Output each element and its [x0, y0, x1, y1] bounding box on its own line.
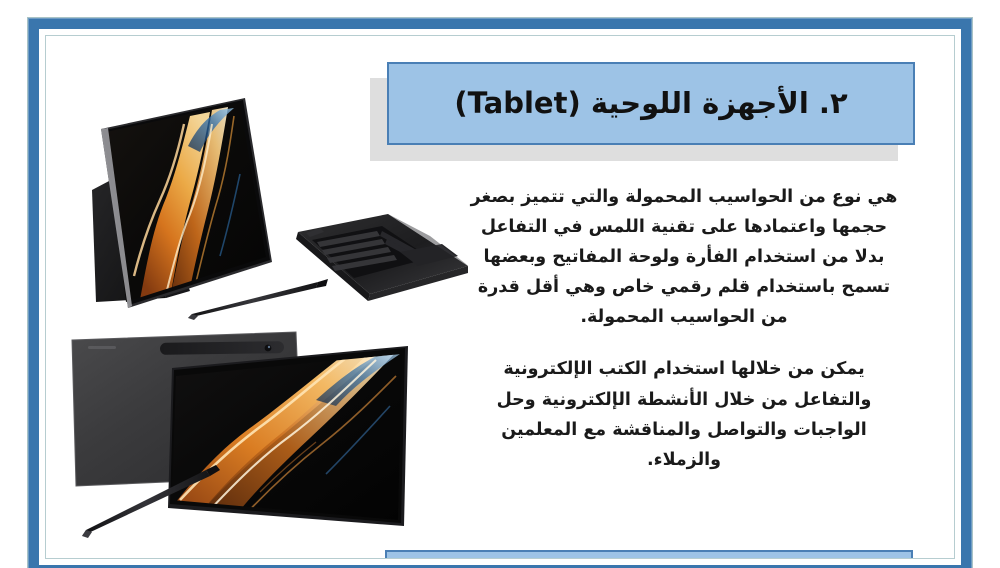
paragraph-educational-uses: يمكن من خلالها استخدام الكتب الإلكترونية…	[464, 354, 904, 474]
body-text-column: هي نوع من الحواسيب المحمولة والتي تتميز …	[464, 182, 904, 475]
paragraph-definition: هي نوع من الحواسيب المحمولة والتي تتميز …	[464, 182, 904, 332]
bottom-banner	[385, 550, 913, 558]
tablet-with-keyboard-image	[70, 86, 470, 336]
slide: ٢. الأجهزة اللوحية (Tablet) هي نوع من ال…	[0, 0, 1000, 568]
tablet-front-back-image	[64, 324, 464, 554]
slide-canvas: ٢. الأجهزة اللوحية (Tablet) هي نوع من ال…	[46, 36, 954, 558]
page-title: ٢. الأجهزة اللوحية (Tablet)	[454, 88, 847, 120]
